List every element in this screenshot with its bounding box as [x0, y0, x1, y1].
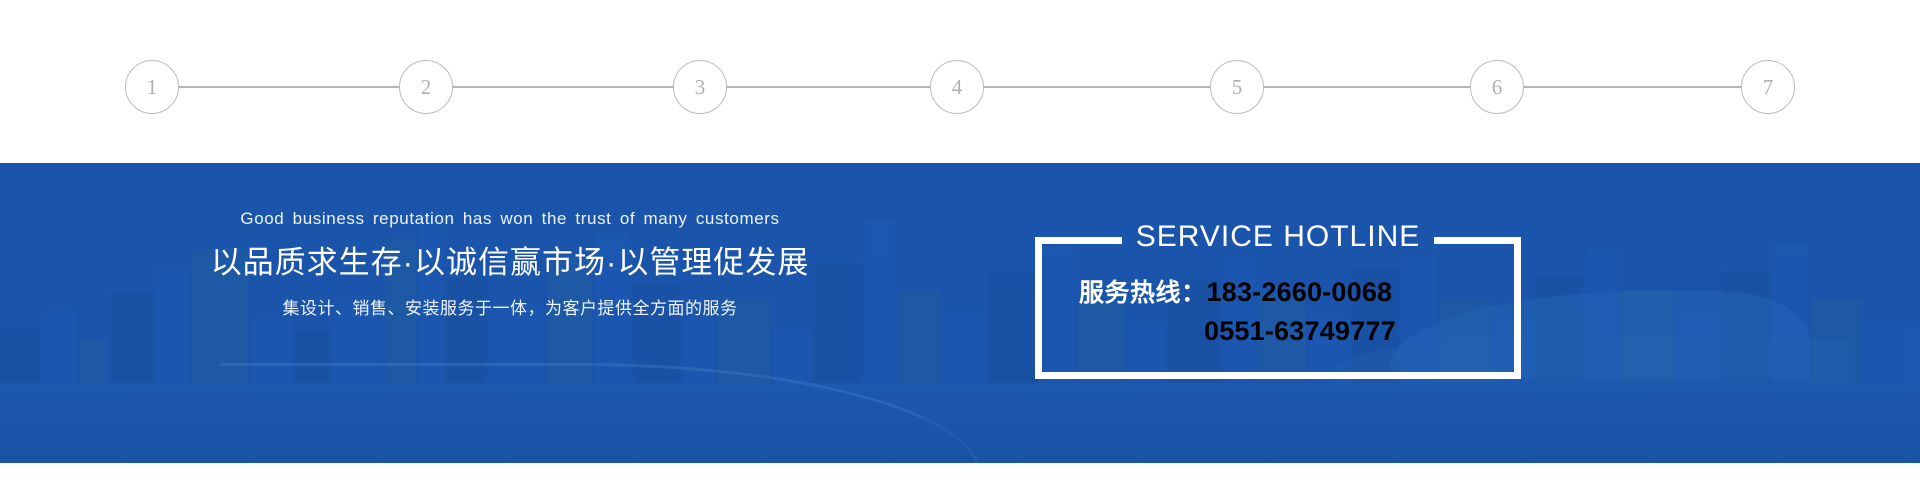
slogan-block: Good business reputation has won the tru… — [0, 210, 1020, 317]
step-node-5[interactable]: 5 — [1210, 60, 1264, 114]
step-label-5: 5 — [1232, 77, 1243, 98]
step-node-1[interactable]: 1 — [125, 60, 179, 114]
step-node-4[interactable]: 4 — [930, 60, 984, 114]
hotline-title: SERVICE HOTLINE — [1122, 216, 1435, 258]
hotline-row-secondary: 0551-63749777 — [1079, 318, 1521, 345]
step-label-3: 3 — [695, 77, 706, 98]
slogan-subline: 集设计、销售、安装服务于一体，为客户提供全方面的服务 — [0, 300, 1020, 317]
step-node-7[interactable]: 7 — [1741, 60, 1795, 114]
step-node-6[interactable]: 6 — [1470, 60, 1524, 114]
step-node-2[interactable]: 2 — [399, 60, 453, 114]
step-label-4: 4 — [952, 77, 963, 98]
hotline-phone-secondary[interactable]: 0551-63749777 — [1204, 318, 1396, 345]
bottom-white-space — [0, 463, 1920, 500]
slogan-english: Good business reputation has won the tru… — [0, 210, 1020, 227]
step-label-1: 1 — [147, 77, 158, 98]
hotline-box: SERVICE HOTLINE 服务热线： 183-2660-0068 0551… — [1035, 237, 1521, 379]
hotline-row-primary: 服务热线： 183-2660-0068 — [1079, 279, 1521, 306]
step-indicator: 1 2 3 4 5 6 7 — [0, 0, 1920, 163]
step-node-3[interactable]: 3 — [673, 60, 727, 114]
hotline-title-wrap: SERVICE HOTLINE — [1035, 216, 1521, 258]
step-label-2: 2 — [421, 77, 432, 98]
step-label-7: 7 — [1763, 77, 1774, 98]
step-label-6: 6 — [1492, 77, 1503, 98]
hotline-rows: 服务热线： 183-2660-0068 0551-63749777 — [1035, 279, 1521, 345]
hotline-label: 服务热线： — [1079, 281, 1207, 306]
slogan-headline: 以品质求生存·以诚信赢市场·以管理促发展 — [0, 247, 1020, 278]
promo-banner: Good business reputation has won the tru… — [0, 163, 1920, 463]
page-root: 1 2 3 4 5 6 7 — [0, 0, 1920, 500]
hotline-phone-primary[interactable]: 183-2660-0068 — [1207, 279, 1393, 306]
